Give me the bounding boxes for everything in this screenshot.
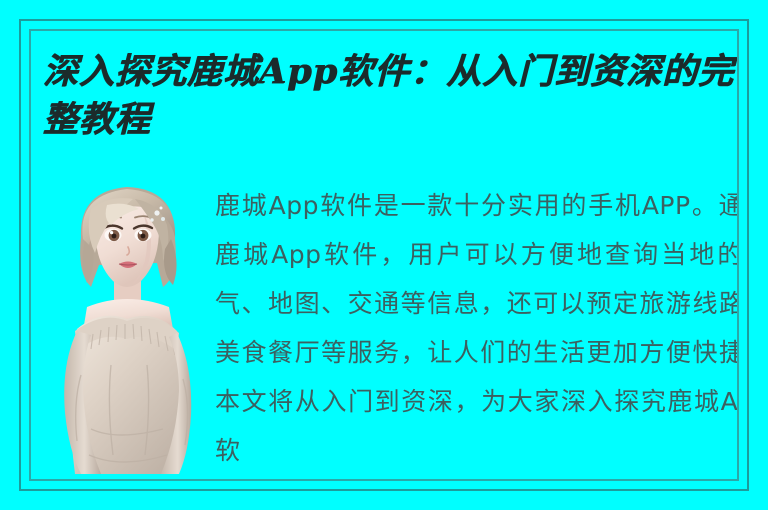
illustration-figure — [51, 179, 203, 474]
poster-content: 深入探究鹿城App软件：从入门到资深的完整教程 — [31, 31, 737, 479]
article-body: 鹿城App软件是一款十分实用的手机APP。通过鹿城App软件，用户可以方便地查询… — [215, 181, 737, 475]
article-poster: 深入探究鹿城App软件：从入门到资深的完整教程 — [0, 0, 768, 510]
page-title: 深入探究鹿城App软件：从入门到资深的完整教程 — [43, 48, 737, 144]
anime-woman-illustration — [51, 179, 203, 474]
